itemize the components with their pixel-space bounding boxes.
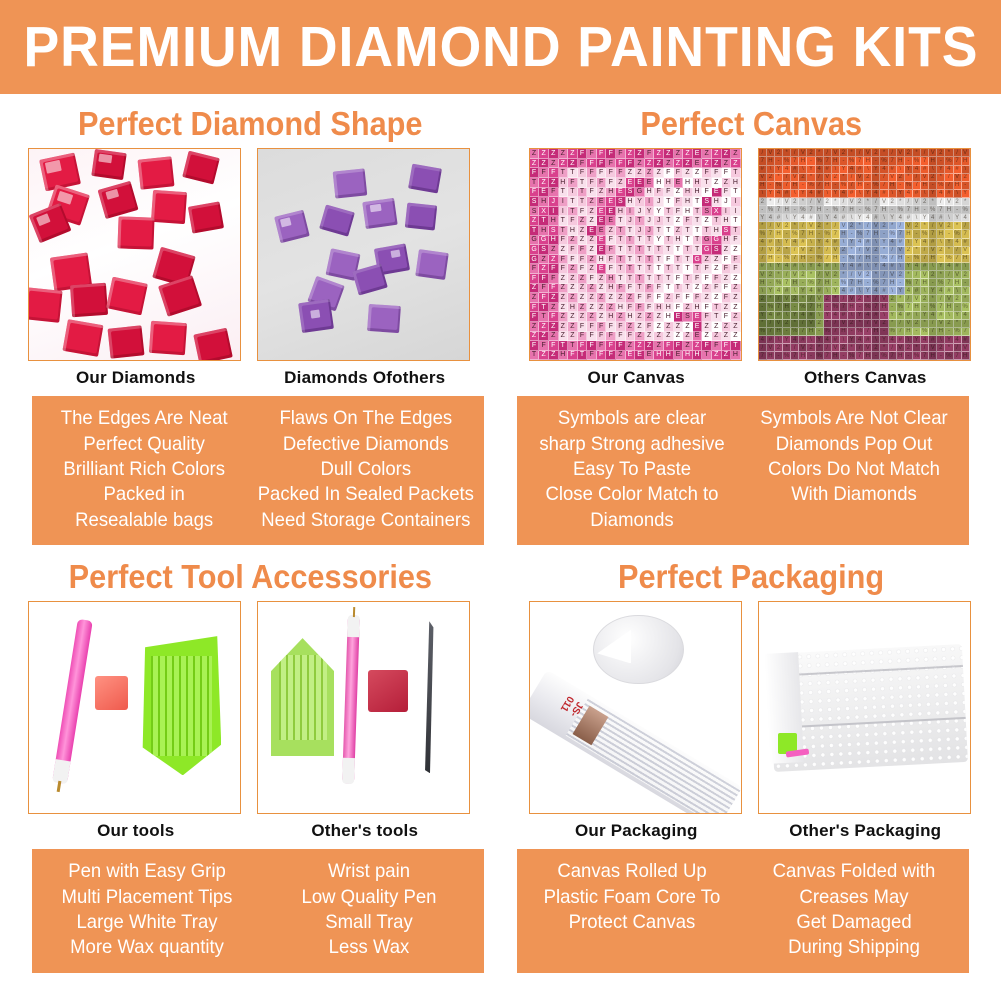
- panel-other-tools: Other's tools: [257, 601, 472, 841]
- panel-group-canvas: ZZZZZFFFFFZZFZZZZEZZZZZZZZZFFFFFFZZZZZZE…: [501, 148, 1001, 388]
- caption-our-tools: Our tools: [28, 814, 243, 841]
- text-boxes-row-bottom: Pen with Easy GripMulti Placement TipsLa…: [0, 849, 1001, 972]
- title-cell-packaging: Perfect Packaging: [501, 559, 1001, 595]
- panel-group-packaging: JS-011 Our Packaging: [501, 601, 1001, 841]
- panel-other-canvas: /V2*/V2*/V2*/V2*/V2*/V2*/V7H-%7H-%7H-%7H…: [758, 148, 973, 388]
- caption-other-canvas: Others Canvas: [758, 361, 973, 388]
- textbox-column-theirs-packaging: Canvas Folded withCreases MayGet Damaged…: [749, 859, 960, 960]
- caption-other-tools: Other's tools: [257, 814, 472, 841]
- panels-row-bottom: Our tools: [0, 601, 1001, 841]
- caption-our-packaging: Our Packaging: [529, 814, 744, 841]
- image-our-packaging: JS-011: [529, 601, 742, 814]
- muddy-symbol-grid-photo: /V2*/V2*/V2*/V2*/V2*/V2*/V7H-%7H-%7H-%7H…: [759, 149, 970, 360]
- textbox-canvas: Symbols are clearsharp Strong adhesiveEa…: [517, 396, 969, 545]
- panel-our-diamonds: Our Diamonds: [28, 148, 243, 388]
- panel-group-tool-accessories: Our tools: [0, 601, 501, 841]
- green-tray-pen-wax-tweezers-photo: [258, 602, 469, 813]
- image-our-canvas: ZZZZZFFFFFZZFZZZZEZZZZZZZZZFFFFFFZZZZZZE…: [529, 148, 742, 361]
- section-title-packaging: Perfect Packaging: [618, 559, 884, 595]
- red-wax-square-icon: [368, 670, 408, 712]
- pink-pen-icon: [342, 615, 359, 784]
- section-titles-row-bottom: Perfect Tool Accessories Perfect Packagi…: [0, 559, 1001, 595]
- textbox-diamond-shape: The Edges Are NeatPerfect QualityBrillia…: [32, 396, 484, 545]
- infographic-page: PREMIUM DIAMOND PAINTING KITS Perfect Di…: [0, 0, 1001, 1001]
- section-title-diamond-shape: Perfect Diamond Shape: [78, 106, 423, 142]
- textbox-column-theirs-diamond-shape: Flaws On The EdgesDefective DiamondsDull…: [258, 406, 474, 533]
- canvas-tube-icon: JS-011: [529, 669, 742, 814]
- caption-other-diamonds: Diamonds Ofothers: [257, 361, 472, 388]
- image-other-canvas: /V2*/V2*/V2*/V2*/V2*/V2*/V7H-%7H-%7H-%7H…: [758, 148, 971, 361]
- small-green-tray-icon: [271, 638, 334, 756]
- title-cell-tool-accessories: Perfect Tool Accessories: [0, 559, 501, 595]
- textbox-tool-accessories: Pen with Easy GripMulti Placement TipsLa…: [32, 849, 484, 972]
- pink-pen-icon: [52, 619, 92, 784]
- red-diamonds-photo: [29, 149, 240, 360]
- panel-other-diamonds: Diamonds Ofothers: [257, 148, 472, 388]
- panels-row-top: Our Diamonds: [0, 148, 1001, 388]
- pink-wax-square-icon: [95, 676, 129, 710]
- caption-other-packaging: Other's Packaging: [758, 814, 973, 841]
- image-our-diamonds: [28, 148, 241, 361]
- textbox-column-theirs-tool-accessories: Wrist painLow Quality PenSmall TrayLess …: [264, 859, 475, 960]
- panel-our-canvas: ZZZZZFFFFFZZFZZZZEZZZZZZZZZFFFFFFZZZZZZE…: [529, 148, 744, 388]
- tweezers-icon: [419, 621, 438, 773]
- textbox-column-theirs-canvas: Symbols Are Not ClearDiamonds Pop OutCol…: [749, 406, 960, 533]
- image-our-tools: [28, 601, 241, 814]
- section-title-tool-accessories: Perfect Tool Accessories: [69, 559, 432, 595]
- bubble-mailer-envelope-photo: [759, 602, 970, 813]
- rolled-canvas-tube-photo: JS-011: [530, 602, 741, 813]
- textbox-column-ours-canvas: Symbols are clearsharp Strong adhesiveEa…: [527, 406, 738, 533]
- image-other-tools: [257, 601, 470, 814]
- image-other-diamonds: [257, 148, 470, 361]
- text-boxes-row-top: The Edges Are NeatPerfect QualityBrillia…: [0, 396, 1001, 545]
- page-title: PREMIUM DIAMOND PAINTING KITS: [23, 19, 978, 76]
- caption-our-diamonds: Our Diamonds: [28, 361, 243, 388]
- large-green-tray-icon: [141, 636, 221, 775]
- title-cell-diamond-shape: Perfect Diamond Shape: [0, 106, 501, 142]
- section-titles-row-top: Perfect Diamond Shape Perfect Canvas: [0, 106, 1001, 142]
- panel-our-tools: Our tools: [28, 601, 243, 841]
- textbox-column-ours-tool-accessories: Pen with Easy GripMulti Placement TipsLa…: [42, 859, 253, 960]
- purple-diamonds-photo: [258, 149, 469, 360]
- textbox-packaging: Canvas Rolled UpPlastic Foam Core ToProt…: [517, 849, 969, 972]
- image-other-packaging: [758, 601, 971, 814]
- caption-our-canvas: Our Canvas: [529, 361, 744, 388]
- pink-symbol-grid-photo: ZZZZZFFFFFZZFZZZZEZZZZZZZZZFFFFFFZZZZZZE…: [530, 149, 741, 360]
- pink-pen-wax-large-green-tray-photo: [29, 602, 240, 813]
- panel-our-packaging: JS-011 Our Packaging: [529, 601, 744, 841]
- textbox-column-ours-packaging: Canvas Rolled UpPlastic Foam Core ToProt…: [527, 859, 738, 960]
- panel-other-packaging: Other's Packaging: [758, 601, 973, 841]
- header-banner: PREMIUM DIAMOND PAINTING KITS: [0, 0, 1001, 94]
- title-cell-canvas: Perfect Canvas: [501, 106, 1001, 142]
- panel-group-diamond-shape: Our Diamonds: [0, 148, 501, 388]
- textbox-column-ours-diamond-shape: The Edges Are NeatPerfect QualityBrillia…: [41, 406, 247, 533]
- section-title-canvas: Perfect Canvas: [640, 106, 862, 142]
